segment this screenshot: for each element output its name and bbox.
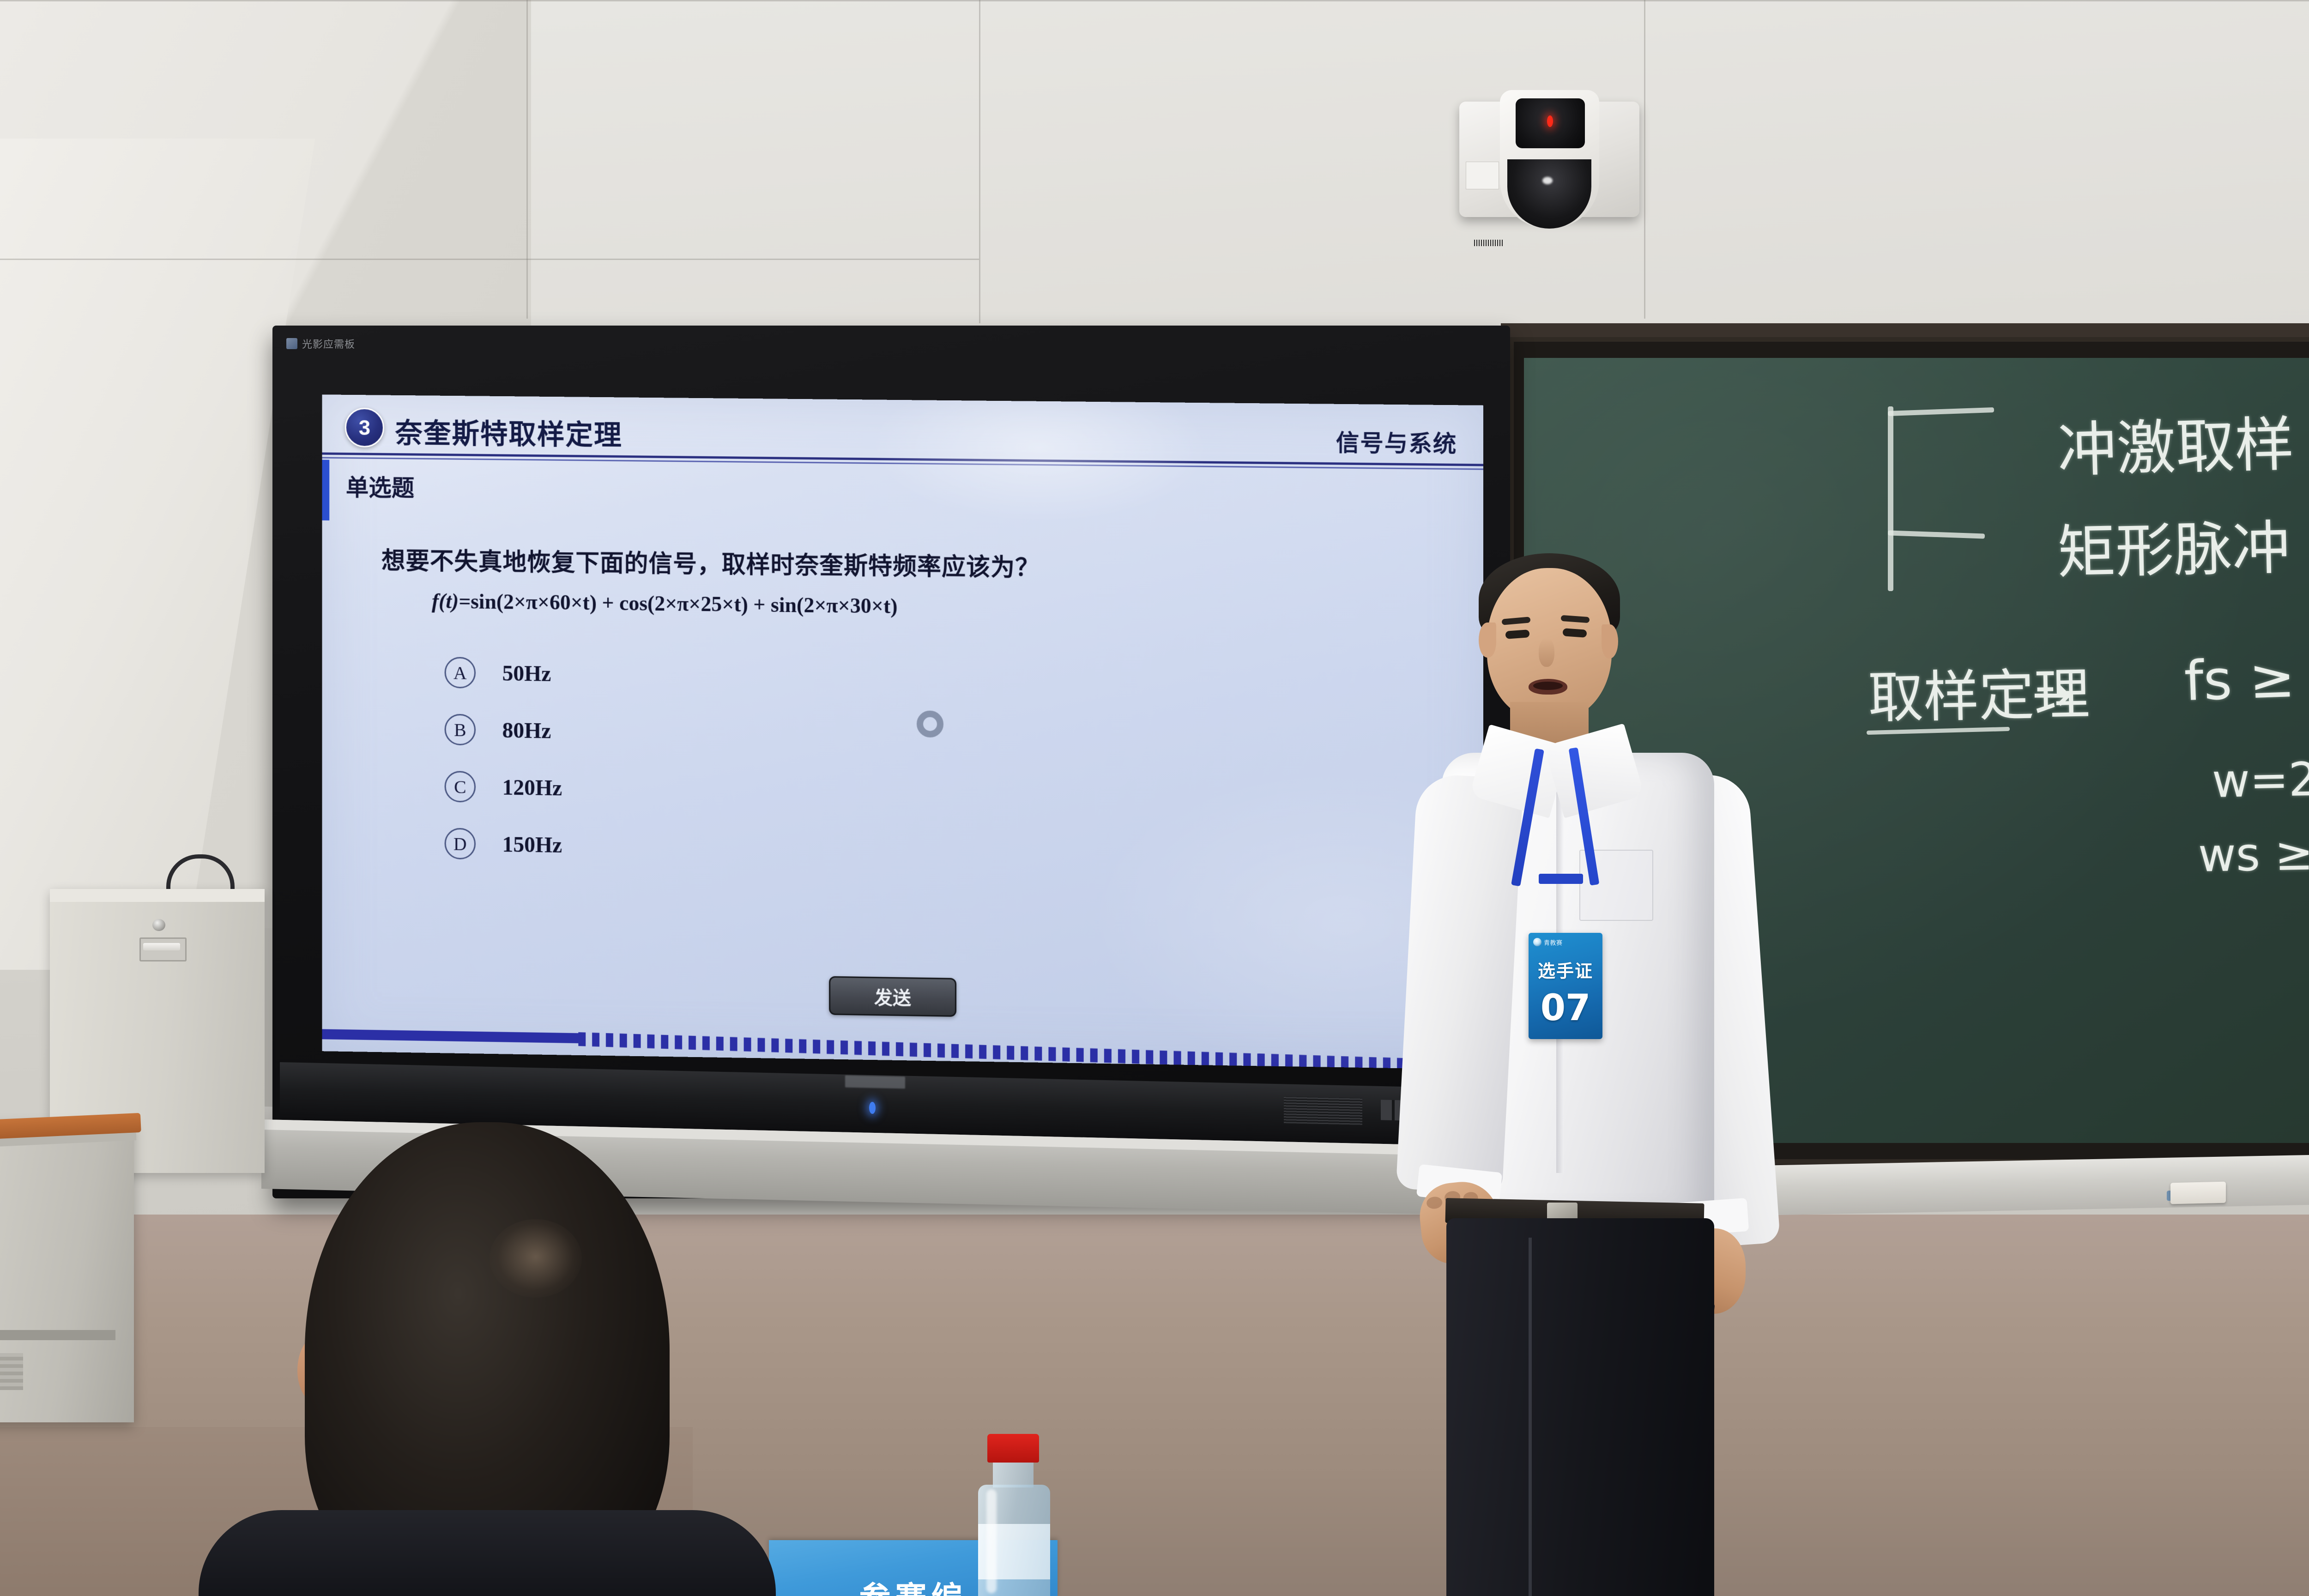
cabinet-handle-bar (143, 943, 180, 950)
cabinet-top-panel (50, 889, 265, 902)
option-label: 80Hz (502, 718, 551, 744)
annotation-ring-marker[interactable] (917, 710, 943, 738)
cabinet-lock-icon[interactable] (152, 919, 165, 931)
slide-section-badge: 3 (345, 408, 384, 447)
wall-seam (526, 0, 528, 319)
presenter-left-arm (1396, 774, 1524, 1194)
chalk-note-1: 冲激取样 (2056, 396, 2295, 488)
wall-seam (0, 0, 2309, 1)
attendee-hair-crown (490, 1219, 582, 1298)
bottle-cap (987, 1434, 1039, 1463)
slide-header: 3 奈奎斯特取样定理 信号与系统 (322, 399, 1483, 466)
question-text: 想要不失真地恢复下面的信号，取样时奈奎斯特频率应该为？ (381, 541, 1040, 583)
option-key-circle[interactable]: A (445, 657, 476, 689)
slide-course-label: 信号与系统 (1336, 424, 1457, 459)
chalk-note-4: fs ≥ 2 (2183, 644, 2309, 713)
option-key-circle[interactable]: D (445, 828, 476, 860)
chalk-arrow-icon: → (2032, 666, 2072, 722)
wall-seam (979, 0, 980, 323)
board-eraser[interactable] (2170, 1182, 2226, 1204)
option-label: 150Hz (502, 832, 562, 858)
presenter-eye-left (1505, 629, 1529, 639)
contestant-badge: 青教赛 选手证 07 (1529, 933, 1602, 1039)
send-button[interactable]: 发送 (829, 976, 956, 1017)
answer-option-a[interactable]: A 50Hz (445, 644, 562, 702)
chalk-note-6: ws ≥ 2w (2198, 825, 2309, 882)
option-key-circle[interactable]: C (445, 771, 476, 803)
question-type-label: 单选题 (346, 469, 414, 503)
whiteboard-screen[interactable]: 3 奈奎斯特取样定理 信号与系统 单选题 想要不失真地恢复下面的信号，取样时奈奎… (322, 394, 1483, 1070)
answer-options: A 50Hz B 80Hz C 120Hz D 150Hz (445, 644, 562, 873)
podium-side-panel (0, 1330, 115, 1340)
answer-option-b[interactable]: B 80Hz (445, 701, 562, 760)
whiteboard-bezel-brand-mark (845, 1076, 905, 1089)
option-key-circle[interactable]: B (445, 714, 476, 746)
presenter-trousers (1446, 1218, 1714, 1596)
formula-term1-body: (2×π×60×t) (496, 590, 597, 614)
presenter-mouth-interior (1533, 682, 1563, 690)
presenter-eye-right (1562, 628, 1587, 638)
lanyard-joint (1539, 874, 1583, 884)
water-bottle[interactable] (974, 1434, 1055, 1596)
whiteboard-brand-label: 光影应需板 (302, 336, 355, 351)
presenter-ear-right (1602, 624, 1618, 659)
attendee-shoulders (199, 1510, 776, 1596)
formula-term2-body: (2×π×25×t) (647, 592, 748, 616)
question-type-accent-bar (322, 460, 329, 520)
slide-footer-bar (322, 1029, 578, 1043)
presenter-ear-left (1479, 623, 1496, 658)
presenter: 青教赛 选手证 07 (1376, 517, 1838, 1596)
slide-title: 奈奎斯特取样定理 (395, 411, 623, 453)
ceiling-camera (1459, 90, 1639, 229)
badge-brand-text: 青教赛 (1544, 938, 1563, 947)
option-label: 50Hz (502, 660, 551, 686)
chalk-note-2: 矩形脉冲 (2056, 501, 2291, 590)
whiteboard-logo-icon (286, 338, 297, 349)
chalk-note-5: w=2πf (2212, 751, 2309, 808)
badge-logo-icon (1533, 938, 1541, 946)
whiteboard-power-led-icon (869, 1102, 876, 1114)
badge-type-label: 选手证 (1529, 957, 1602, 982)
question-formula: f(t)=sin(2×π×60×t) + cos(2×π×25×t) + sin… (432, 589, 898, 618)
formula-lhs: f(t)= (432, 589, 471, 613)
camera-dome-glint (1542, 177, 1553, 184)
wall-seam (1644, 0, 1645, 319)
wall-seam (0, 259, 979, 260)
trouser-crease (1529, 1238, 1532, 1596)
formula-term3-fn: sin (771, 593, 797, 617)
bottle-neck (993, 1461, 1034, 1487)
badge-number: 07 (1529, 987, 1602, 1029)
camera-asset-label (1466, 162, 1499, 189)
knuckle (1426, 1196, 1443, 1209)
podium-vent (0, 1353, 23, 1390)
presenter-nose (1539, 638, 1554, 667)
option-label: 120Hz (502, 774, 562, 801)
classroom-scene: 冲激取样 矩形脉冲 取样定理 → fs ≥ 2 w=2πf ws ≥ 2w 光影… (0, 0, 2309, 1596)
answer-option-d[interactable]: D 150Hz (445, 815, 562, 874)
barcode-icon (1474, 240, 1504, 246)
formula-plus-1: + (597, 591, 619, 615)
answer-option-c[interactable]: C 120Hz (445, 758, 562, 816)
formula-plus-2: + (748, 592, 771, 616)
badge-logo: 青教赛 (1533, 937, 1583, 947)
whiteboard-brand: 光影应需板 (283, 333, 397, 354)
camera-record-led-icon (1547, 115, 1553, 127)
formula-term3-body: (2×π×30×t) (797, 593, 898, 618)
formula-term2-fn: cos (619, 591, 647, 615)
whiteboard-speaker-grille (1284, 1096, 1362, 1125)
bottle-highlight (986, 1489, 997, 1593)
chalk-bracket-vertical (1888, 406, 1893, 591)
formula-term1-fn: sin (471, 590, 496, 613)
